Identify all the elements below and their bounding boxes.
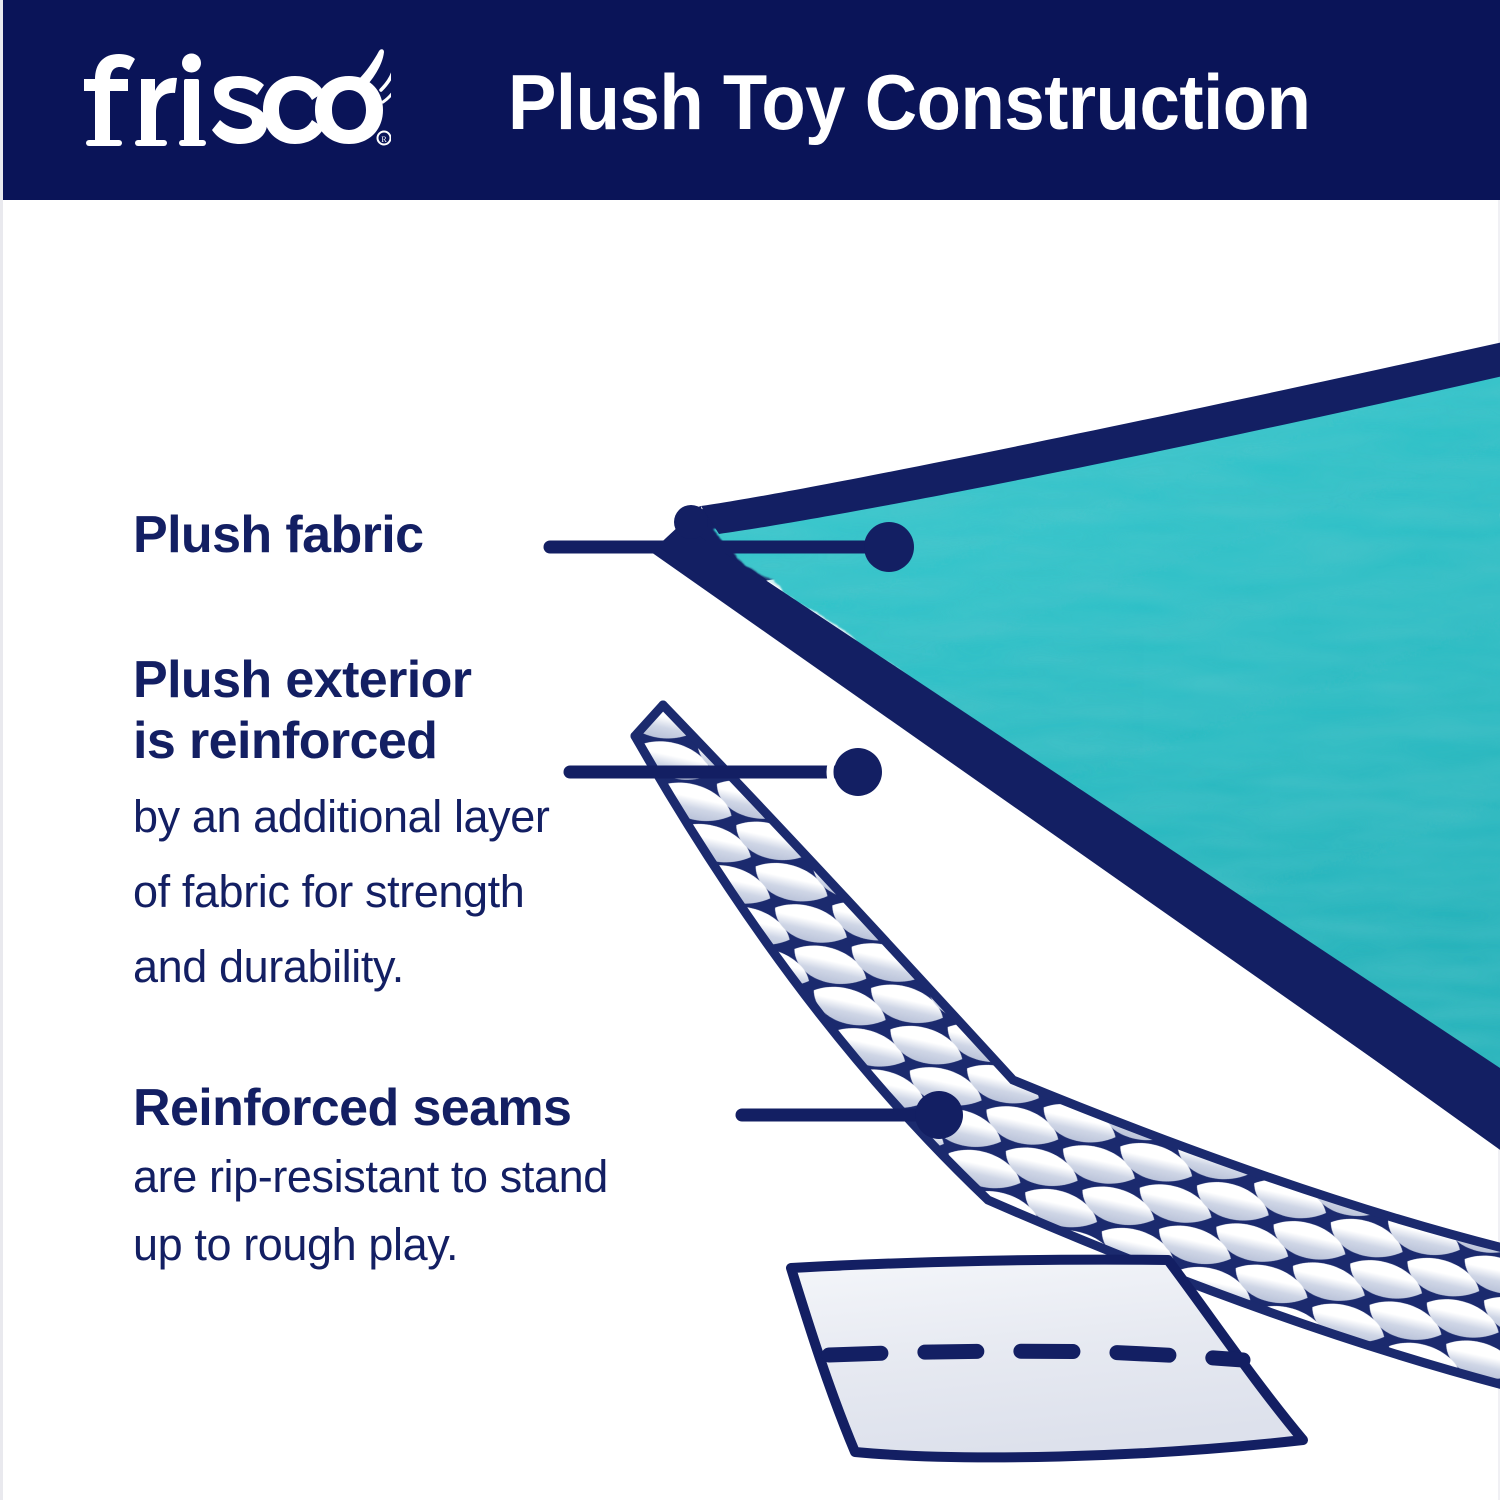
- callout-reinforced-seams: Reinforced seams are rip-resistant to st…: [133, 1078, 608, 1275]
- leader-dot-plush-exterior: [834, 748, 882, 796]
- callout-body-seams-line-2: up to rough play.: [133, 1215, 608, 1275]
- callout-body-line-2: of fabric for strength: [133, 862, 549, 922]
- callout-heading-line-1: Plush exterior: [133, 650, 549, 711]
- infographic-page: R Plush Toy Construction: [0, 0, 1500, 1500]
- callout-body-line-3: and durability.: [133, 937, 549, 997]
- leader-dot-reinforced-seams: [915, 1091, 963, 1139]
- callout-plush-fabric: Plush fabric: [133, 505, 423, 566]
- callout-heading-reinforced-seams: Reinforced seams: [133, 1078, 608, 1139]
- callout-body-seams-line-1: are rip-resistant to stand: [133, 1147, 608, 1207]
- callout-heading-line-2: is reinforced: [133, 711, 549, 772]
- callout-heading-plush-fabric: Plush fabric: [133, 505, 423, 566]
- leader-dot-plush-fabric: [864, 522, 914, 572]
- callout-body-line-1: by an additional layer: [133, 787, 549, 847]
- callout-plush-exterior: Plush exterior is reinforced by an addit…: [133, 650, 549, 997]
